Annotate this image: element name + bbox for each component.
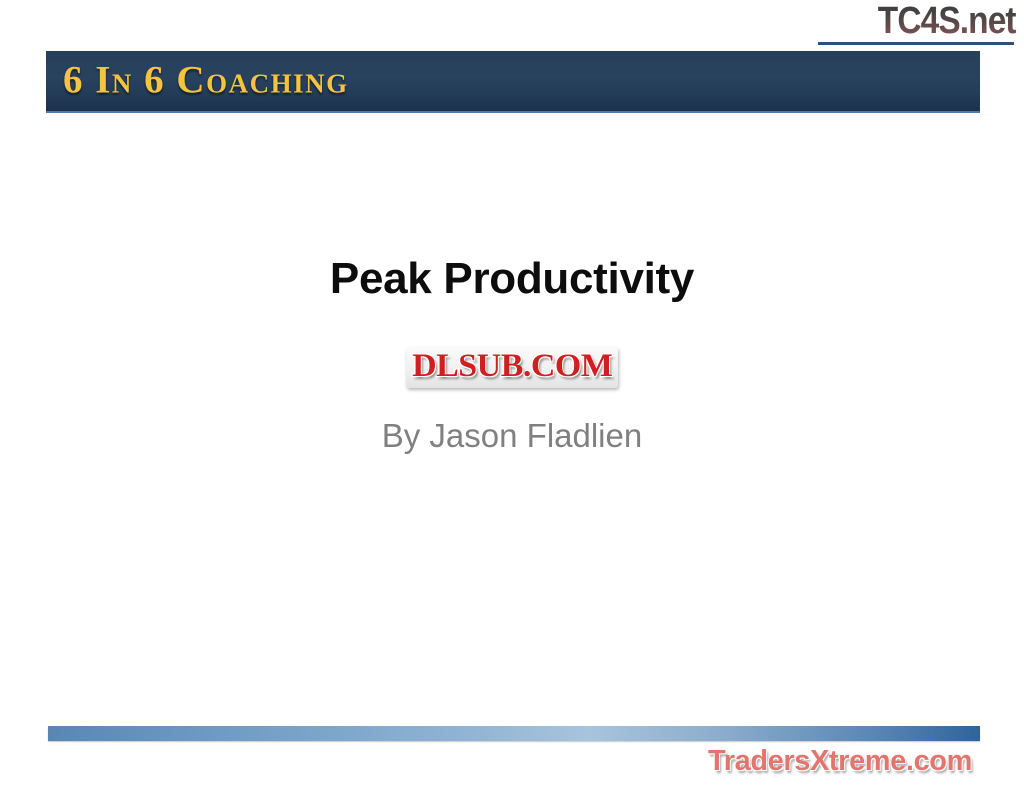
presentation-slide: TC4S.net 6 In 6 Coaching Peak Productivi… bbox=[0, 0, 1024, 791]
tc4s-underline-rule bbox=[818, 42, 1014, 45]
dlsub-watermark-text: DLSUB.COM bbox=[412, 350, 612, 383]
header-banner-title: 6 In 6 Coaching bbox=[63, 58, 349, 103]
slide-content: Peak Productivity DLSUB.COM By Jason Fla… bbox=[0, 255, 1024, 455]
tradersxtreme-watermark: TradersXtreme.com bbox=[708, 747, 972, 776]
slide-header-banner: 6 In 6 Coaching bbox=[46, 51, 980, 113]
page-title: Peak Productivity bbox=[0, 255, 1024, 303]
tc4s-watermark: TC4S.net bbox=[878, 2, 1016, 40]
slide-byline: By Jason Fladlien bbox=[0, 418, 1024, 454]
footer-decorative-bar bbox=[48, 726, 980, 741]
dlsub-watermark: DLSUB.COM bbox=[406, 347, 618, 388]
